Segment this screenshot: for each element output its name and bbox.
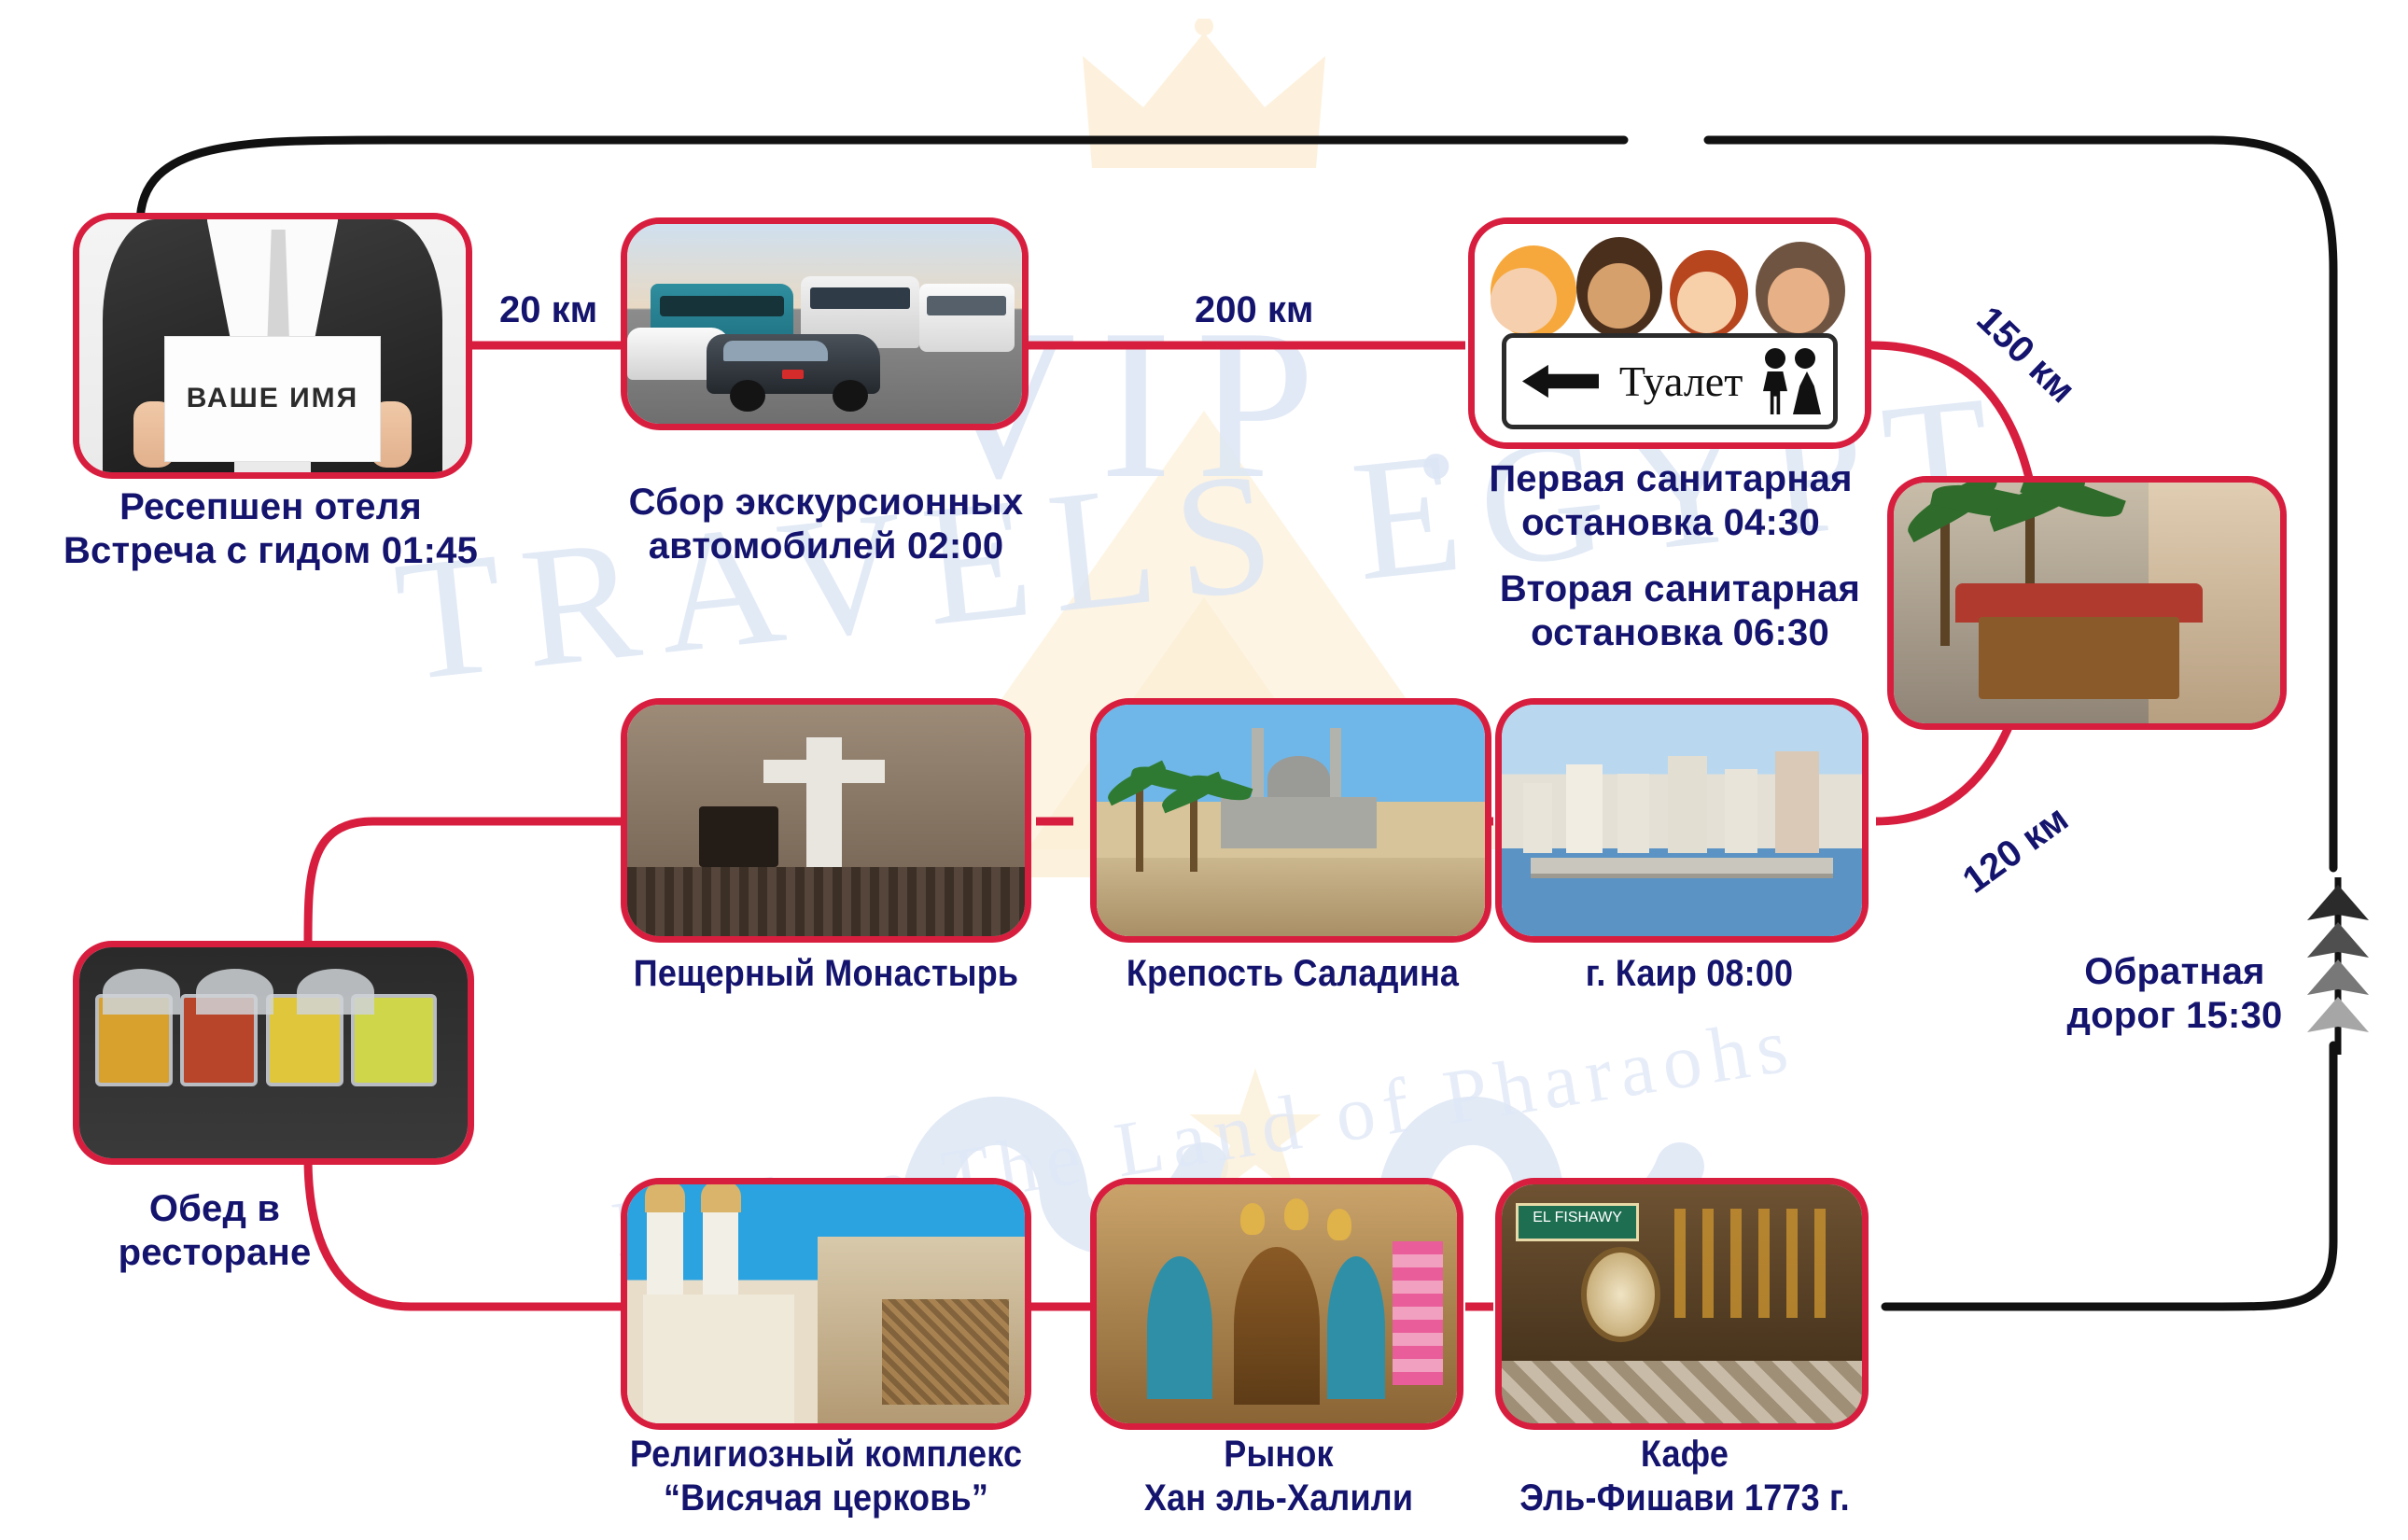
node-card-khan-el-khalili[interactable] (1090, 1178, 1463, 1430)
node-card-excursion-cars[interactable] (621, 217, 1029, 430)
infographic-canvas: VIP . TRAVELS EGYPT Explore The Land of … (0, 0, 2408, 1540)
node-card-cairo-city[interactable] (1495, 698, 1869, 943)
node-card-el-fishawi-cafe[interactable]: EL FISHAWY (1495, 1178, 1869, 1430)
caption-cairo-city: г. Каир 08:00 (1513, 952, 1866, 996)
node-card-hanging-church[interactable] (621, 1178, 1031, 1430)
caption-return-trip: Обратная дорог 15:30 (2025, 950, 2324, 1038)
restroom-pictograms-icon (1763, 348, 1817, 414)
image-cairo-skyline (1502, 705, 1862, 936)
image-hanging-church (627, 1184, 1025, 1423)
caption-hotel-reception: Ресепшен отеля Встреча с гидом 01:45 (9, 485, 532, 573)
node-card-restaurant-lunch[interactable] (73, 941, 474, 1165)
image-kids-with-toilet-sign: Туалет (1475, 224, 1865, 442)
image-excursion-vehicles (627, 224, 1022, 424)
image-khan-el-khalili-bazaar (1097, 1184, 1457, 1423)
image-el-fishawy-cafe: EL FISHAWY (1502, 1184, 1862, 1423)
caption-second-sanitary-stop: Вторая санитарная остановка 06:30 (1465, 567, 1895, 655)
watermark-crown-icon (1073, 19, 1335, 187)
name-placard-text: ВАШЕ ИМЯ (187, 383, 358, 414)
distance-label-150km: 150 км (1968, 299, 2083, 412)
caption-hanging-church: Религиозный комплекс “Висячая церковь” (587, 1433, 1066, 1520)
distance-label-120km: 120 км (1955, 798, 2077, 902)
node-card-cave-monastery[interactable] (621, 698, 1031, 943)
image-man-with-sign: ВАШЕ ИМЯ (79, 219, 466, 472)
node-card-first-sanitary-stop[interactable]: Туалет (1468, 217, 1871, 449)
image-cave-monastery (627, 705, 1025, 936)
caption-cave-monastery: Пещерный Монастырь (587, 952, 1066, 996)
node-card-hotel-reception[interactable]: ВАШЕ ИМЯ (73, 213, 472, 479)
toilet-direction-sign: Туалет (1502, 333, 1837, 429)
caption-excursion-cars: Сбор экскурсионных автомобилей 02:00 (560, 481, 1092, 568)
caption-first-sanitary-stop: Первая санитарная остановка 04:30 (1456, 457, 1885, 545)
caption-saladin-citadel: Крепость Саладина (1087, 952, 1499, 996)
image-saladin-citadel (1097, 705, 1485, 936)
name-placard: ВАШЕ ИМЯ (164, 336, 381, 463)
cafe-sign-text: EL FISHAWY (1519, 1206, 1635, 1230)
toilet-sign-text: Туалет (1604, 357, 1757, 406)
left-arrow-icon (1522, 365, 1599, 398)
image-rest-area (1894, 483, 2280, 723)
node-card-second-sanitary-stop[interactable] (1887, 476, 2287, 730)
node-card-saladin-citadel[interactable] (1090, 698, 1491, 943)
cafe-sign: EL FISHAWY (1516, 1203, 1638, 1241)
caption-restaurant-lunch: Обед в ресторане (56, 1187, 373, 1275)
distance-label-20km: 20 км (499, 289, 597, 331)
image-buffet-trays (79, 947, 468, 1158)
caption-el-fishawi-cafe: Кафе Эль-Фишави 1773 г. (1488, 1433, 1883, 1520)
caption-khan-el-khalili: Рынок Хан эль-Халили (1094, 1433, 1463, 1520)
distance-label-200km: 200 км (1195, 289, 1313, 331)
